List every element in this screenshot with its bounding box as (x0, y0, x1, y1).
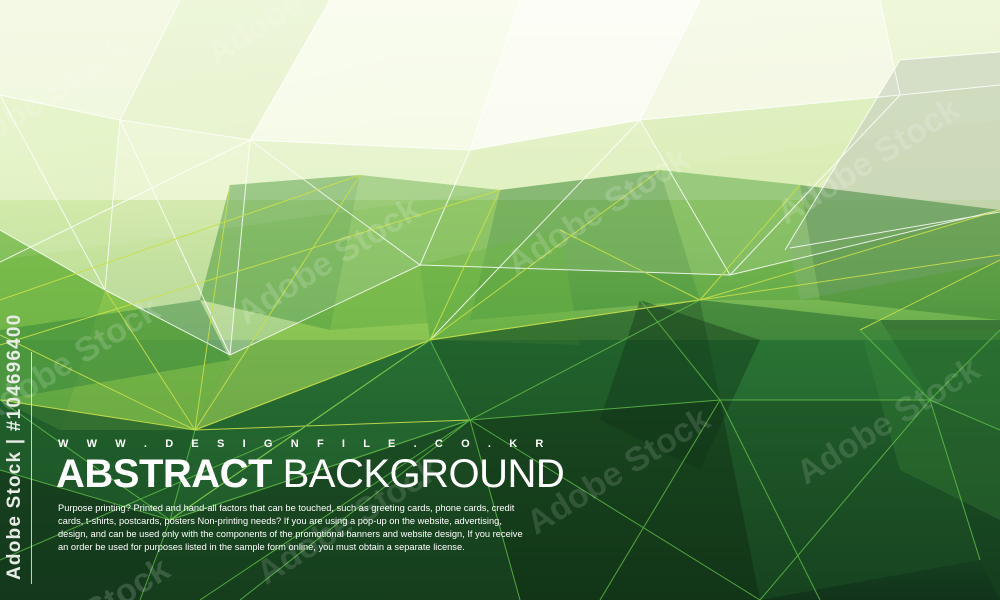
headline-bold: ABSTRACT (56, 452, 272, 496)
page-title: ABSTRACT BACKGROUND (56, 454, 556, 495)
adobe-stock-credit: Adobe Stock | #104696400 (4, 314, 26, 580)
headline-light: BACKGROUND (272, 452, 564, 496)
body-copy: Purpose printing? Printed and hand-all f… (58, 502, 528, 555)
rail-divider (31, 352, 32, 584)
site-url: W W W . D E S I G N F I L E . C O . K R (58, 438, 556, 450)
artwork-canvas: Adobe Stock Adobe Stock Adobe Stock Adob… (0, 0, 1000, 600)
copy-block: W W W . D E S I G N F I L E . C O . K R … (56, 438, 556, 555)
